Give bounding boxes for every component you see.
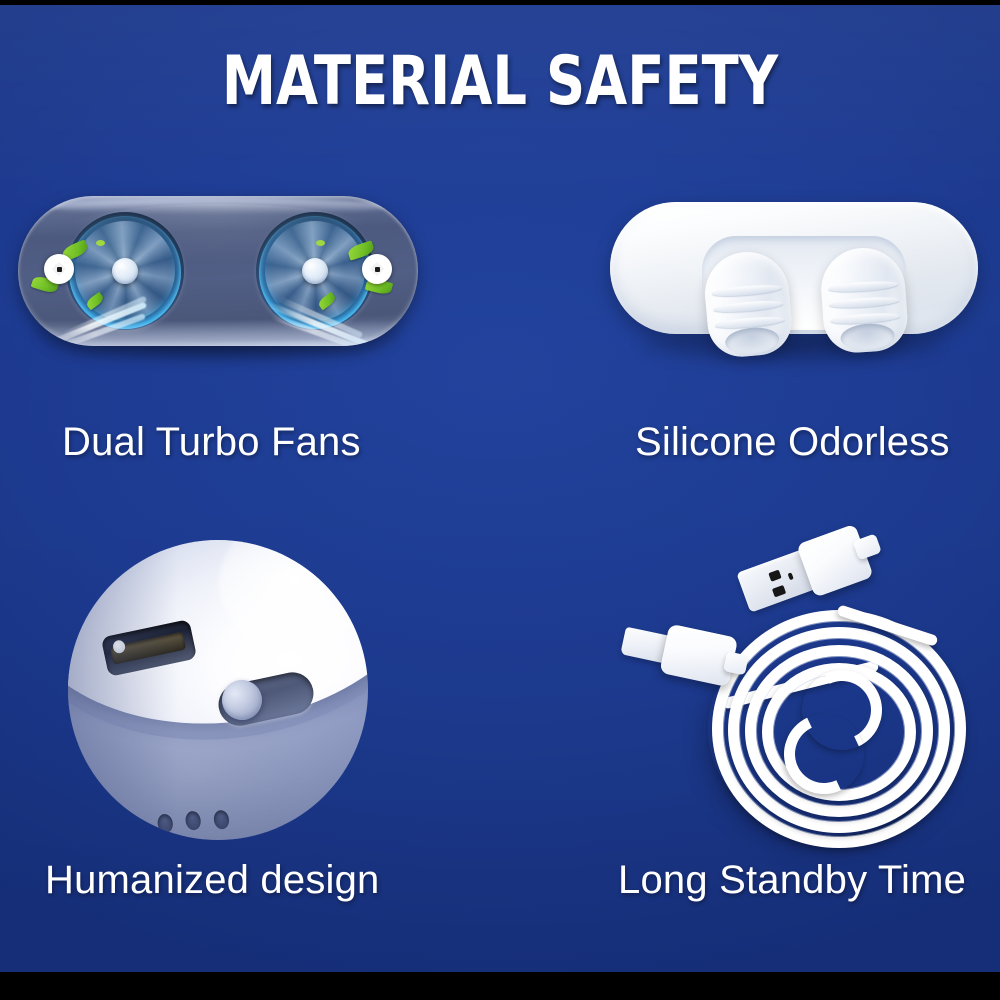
flower-icon <box>362 254 392 284</box>
vent-hole <box>156 813 174 834</box>
silicone-pad <box>610 202 978 334</box>
vent-hole <box>129 818 147 839</box>
vent-hole <box>212 809 230 830</box>
feature-label-silicone-odorless: Silicone Odorless <box>635 420 950 465</box>
feature-label-long-standby-time: Long Standby Time <box>618 858 966 903</box>
feature-label-humanized-design: Humanized design <box>45 858 380 903</box>
vent-hole <box>101 825 119 840</box>
infographic-canvas: MATERIAL SAFETY <box>0 0 1000 1000</box>
micro-usb-strain-relief <box>723 651 749 675</box>
fan-hub <box>112 258 138 284</box>
long-standby-time-image <box>600 530 1000 860</box>
usb-a-connector-icon <box>734 522 875 622</box>
usb-contact <box>768 570 781 582</box>
silicone-nozzle-left <box>702 249 795 360</box>
leaf-icon <box>316 240 325 246</box>
micro-usb-connector-icon <box>618 615 738 689</box>
nozzle-rib <box>828 280 899 294</box>
page-title: MATERIAL SAFETY <box>100 48 900 116</box>
letterbox-bar-bottom <box>0 972 1000 1000</box>
feature-label-dual-turbo-fans: Dual Turbo Fans <box>62 420 361 465</box>
silicone-odorless-image <box>600 196 990 371</box>
letterbox-bar-top <box>0 0 1000 5</box>
vent-hole <box>184 810 202 831</box>
cable-s-curve <box>776 670 884 780</box>
nozzle-rib <box>713 299 784 314</box>
dual-turbo-fans-image <box>18 196 418 348</box>
silicone-nozzle-right <box>818 245 909 355</box>
fan-hub <box>302 258 328 284</box>
leaf-icon <box>96 240 105 246</box>
usb-contact <box>788 572 794 580</box>
humanized-design-image <box>68 540 368 840</box>
nozzle-rib <box>711 283 782 298</box>
nozzle-rib <box>829 296 900 310</box>
fan-device-body <box>18 196 418 346</box>
flower-icon <box>44 254 74 284</box>
usb-contact <box>772 585 786 598</box>
